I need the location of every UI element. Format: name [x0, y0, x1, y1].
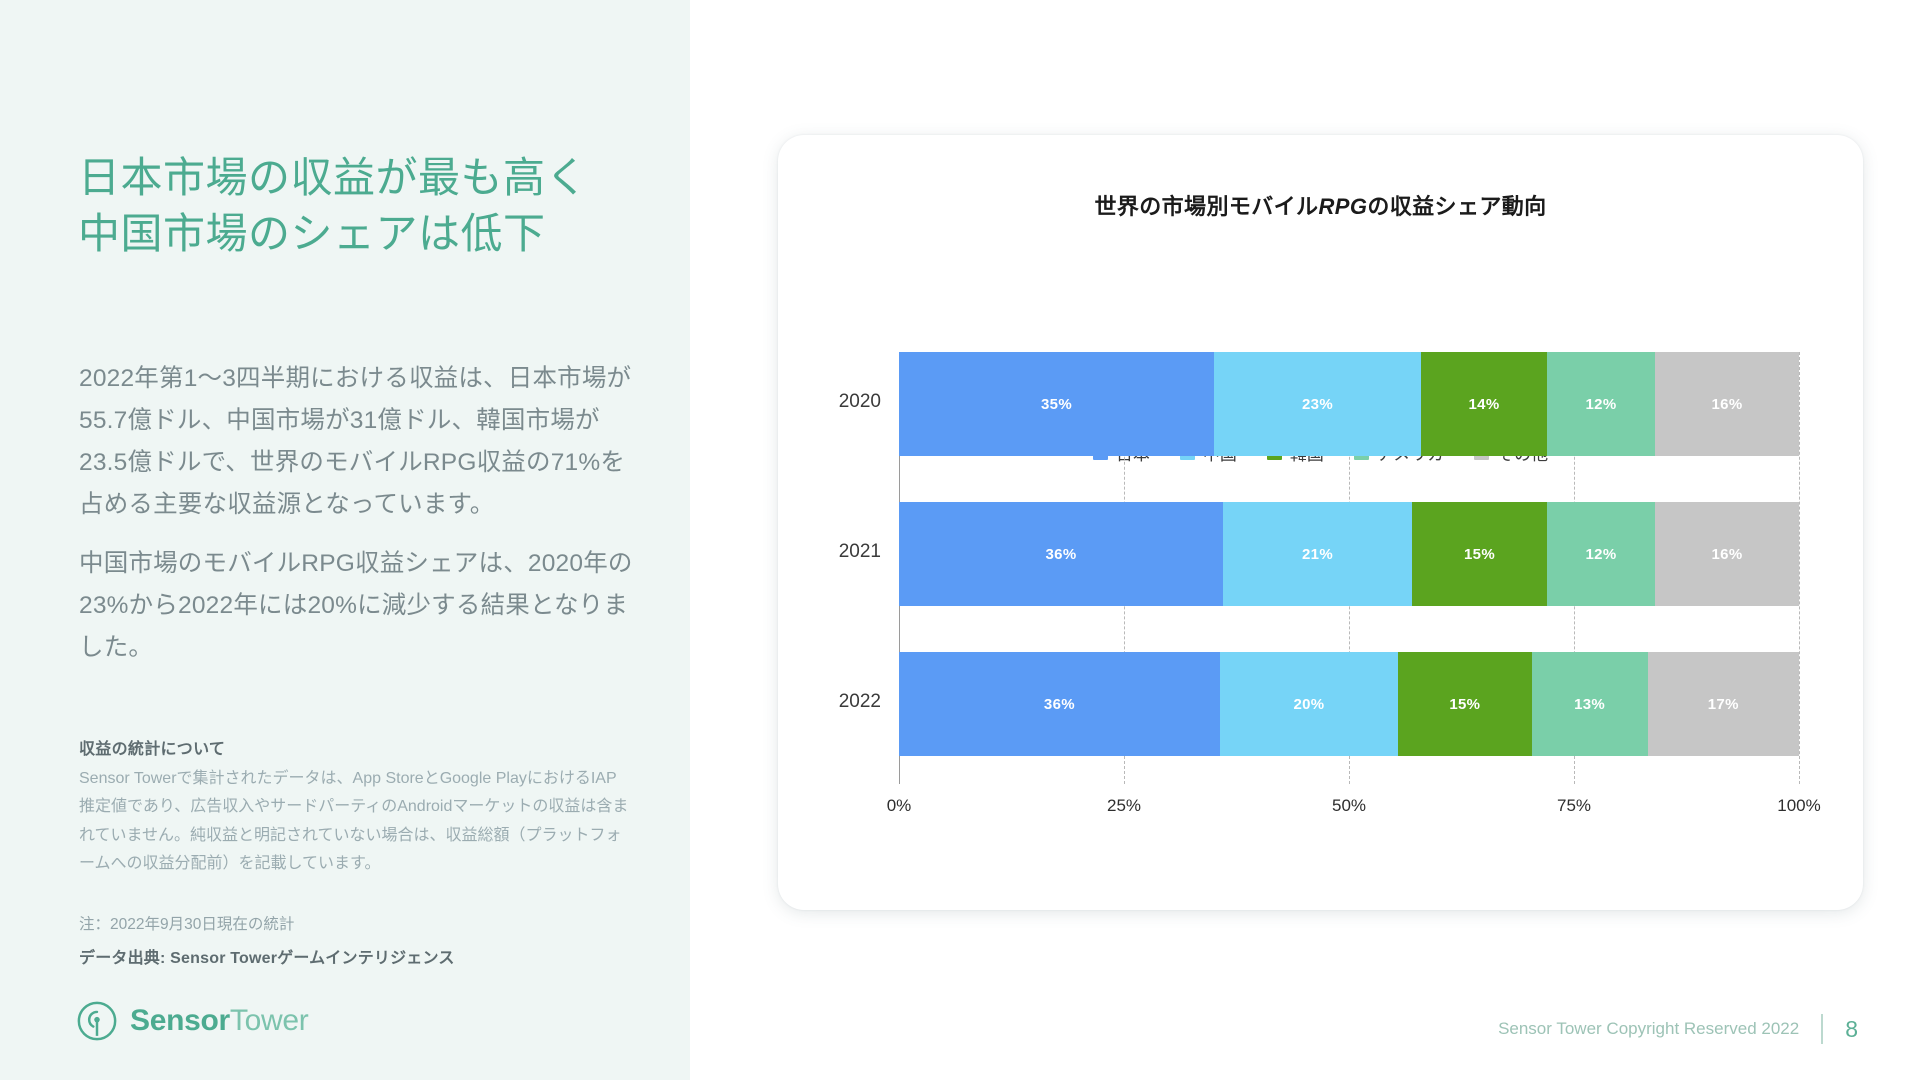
footer: Sensor Tower Copyright Reserved 2022 8 [1498, 1014, 1858, 1044]
logo-wordmark: SensorTower [130, 1004, 308, 1038]
bar-segment-2022-アメリカ[interactable]: 13% [1532, 652, 1648, 756]
logo-word-sensor: Sensor [130, 1004, 230, 1037]
bar-segment-2020-アメリカ[interactable]: 12% [1547, 352, 1655, 456]
bar-row-2021: 36%21%15%12%16% [899, 502, 1799, 606]
chart-title-part-1: 世界の市場別モバイル [1094, 194, 1318, 219]
page-number: 8 [1845, 1016, 1858, 1043]
sensor-tower-logo-icon [76, 1000, 118, 1042]
notes-title: 収益の統計について [79, 735, 225, 759]
x-axis-tick-50%: 50% [1332, 796, 1366, 816]
x-axis-tick-100%: 100% [1777, 796, 1820, 816]
chart-title-part-2: の収益シェア動向 [1367, 194, 1546, 219]
x-axis-tick-75%: 75% [1557, 796, 1591, 816]
bar-segment-2020-中国[interactable]: 23% [1214, 352, 1421, 456]
left-content-panel: 日本市場の収益が最も高く 中国市場のシェアは低下 2022年第1〜3四半期におけ… [0, 0, 690, 1080]
logo-word-tower: Tower [230, 1004, 309, 1037]
bar-segment-2020-韓国[interactable]: 14% [1421, 352, 1547, 456]
bar-segment-2020-日本[interactable]: 35% [899, 352, 1214, 456]
page-title: 日本市場の収益が最も高く 中国市場のシェアは低下 [78, 150, 648, 263]
bar-segment-2022-日本[interactable]: 36% [899, 652, 1220, 756]
footer-copyright: Sensor Tower Copyright Reserved 2022 [1498, 1019, 1799, 1039]
chart-title: 世界の市場別モバイルRPGの収益シェア動向 [778, 189, 1863, 221]
sensor-tower-logo: SensorTower [76, 1000, 308, 1042]
bar-segment-2021-アメリカ[interactable]: 12% [1547, 502, 1655, 606]
bar-segment-2021-その他[interactable]: 16% [1655, 502, 1799, 606]
notes-body: Sensor Towerで集計されたデータは、App StoreとGoogle … [79, 765, 631, 879]
data-source: データ出典: Sensor Towerゲームインテリジェンス [79, 944, 455, 968]
gridline-100% [1799, 352, 1800, 784]
body-paragraph-1: 2022年第1〜3四半期における収益は、日本市場が55.7億ドル、中国市場が31… [79, 358, 639, 527]
bar-segment-2022-その他[interactable]: 17% [1648, 652, 1799, 756]
x-axis-tick-25%: 25% [1107, 796, 1141, 816]
y-axis-label-2021: 2021 [801, 541, 881, 563]
bar-segment-2022-中国[interactable]: 20% [1220, 652, 1398, 756]
bar-segment-2022-韓国[interactable]: 15% [1398, 652, 1532, 756]
bar-row-2022: 36%20%15%13%17% [899, 652, 1799, 756]
chart-plot-area: 35%23%14%12%16%202036%21%15%12%16%202136… [899, 352, 1799, 784]
body-paragraph-2: 中国市場のモバイルRPG収益シェアは、2020年の23%から2022年には20%… [79, 543, 639, 669]
note-date: 注：2022年9月30日現在の統計 [79, 912, 294, 934]
slide-page: 日本市場の収益が最も高く 中国市場のシェアは低下 2022年第1〜3四半期におけ… [0, 0, 1920, 1080]
y-axis-label-2022: 2022 [801, 691, 881, 713]
bar-segment-2021-韓国[interactable]: 15% [1412, 502, 1547, 606]
bar-segment-2021-日本[interactable]: 36% [899, 502, 1223, 606]
bar-segment-2020-その他[interactable]: 16% [1655, 352, 1799, 456]
footer-divider [1821, 1014, 1823, 1044]
headline-line-1: 日本市場の収益が最も高く [78, 150, 648, 206]
bar-row-2020: 35%23%14%12%16% [899, 352, 1799, 456]
bar-segment-2021-中国[interactable]: 21% [1223, 502, 1412, 606]
chart-title-italic: RPG [1318, 194, 1367, 219]
chart-plot-inner: 35%23%14%12%16%202036%21%15%12%16%202136… [899, 352, 1799, 784]
y-axis-label-2020: 2020 [801, 391, 881, 413]
headline-line-2: 中国市場のシェアは低下 [78, 206, 648, 262]
x-axis-tick-0%: 0% [887, 796, 912, 816]
